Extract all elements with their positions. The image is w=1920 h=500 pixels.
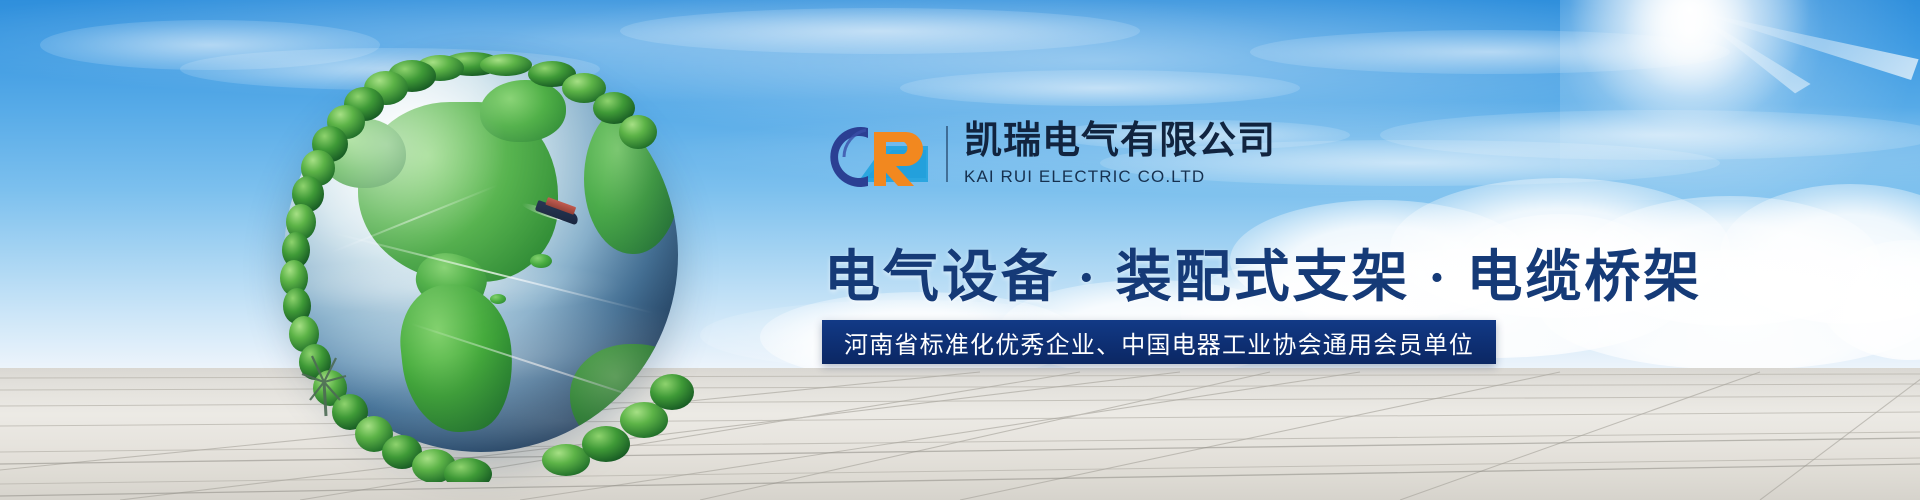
cr-monogram-icon	[822, 120, 940, 188]
certification-badge: 河南省标准化优秀企业、中国电器工业协会通用会员单位	[822, 320, 1496, 364]
company-name-cn: 凯瑞电气有限公司	[964, 122, 1276, 160]
globe-rim-trees	[266, 52, 696, 482]
product-tagline: 电气设备 · 装配式支架 · 电缆桥架	[824, 232, 1702, 313]
certification-badge-text: 河南省标准化优秀企业、中国电器工业协会通用会员单位	[844, 325, 1474, 360]
eco-globe-graphic	[266, 52, 696, 482]
logo-divider	[946, 126, 948, 182]
company-name-en: KAI RUI ELECTRIC CO.LTD	[964, 167, 1276, 187]
logo-text-group: 凯瑞电气有限公司 KAI RUI ELECTRIC CO.LTD	[964, 122, 1276, 187]
hero-banner: 凯瑞电气有限公司 KAI RUI ELECTRIC CO.LTD 电气设备 · …	[0, 0, 1920, 500]
company-logo-block[interactable]: 凯瑞电气有限公司 KAI RUI ELECTRIC CO.LTD	[822, 120, 1276, 188]
